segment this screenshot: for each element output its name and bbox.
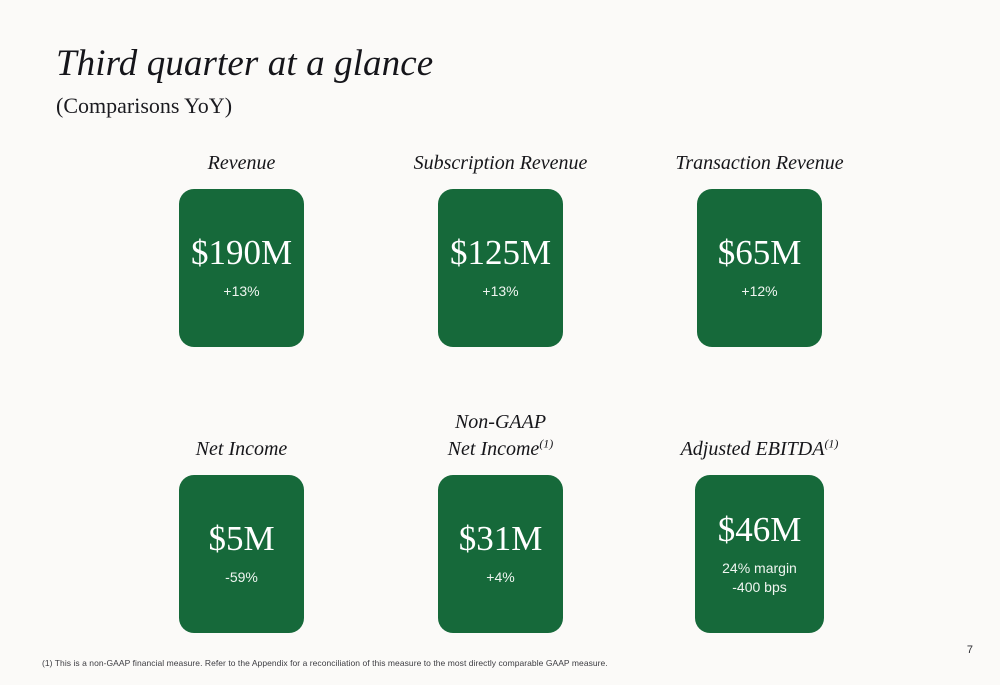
metric-label-text: Subscription Revenue — [414, 152, 588, 174]
metric-card: $125M +13% — [438, 189, 563, 347]
metric-card: $31M +4% — [438, 475, 563, 633]
page-title: Third quarter at a glance — [56, 42, 433, 86]
metric-card: $190M +13% — [179, 189, 304, 347]
metric-label-text: Adjusted EBITDA — [681, 438, 825, 460]
metric-card: $46M 24% margin -400 bps — [695, 475, 824, 633]
metric-delta: -59% — [225, 568, 258, 587]
metric-label-text: Revenue — [208, 152, 276, 174]
metric-label: Net Income — [196, 436, 288, 463]
metric-label: Transaction Revenue — [675, 150, 843, 177]
page-number: 7 — [967, 643, 973, 657]
metrics-row-2: Net Income $5M -59% Non-GAAP Net Income(… — [0, 407, 1000, 633]
label-block: Adjusted EBITDA(1) — [681, 407, 839, 463]
metric-label-text: Net Income — [196, 438, 288, 460]
metric-label: Non-GAAP Net Income(1) — [448, 409, 554, 463]
metric-value: $125M — [450, 233, 551, 273]
label-block: Revenue — [208, 150, 276, 177]
metric-value: $5M — [208, 519, 274, 559]
metrics-grid: Revenue $190M +13% Subscription Revenue … — [0, 150, 1000, 633]
metric-label-superscript: (1) — [824, 436, 838, 450]
metric-delta: +13% — [482, 282, 518, 301]
metric-card: $65M +12% — [697, 189, 822, 347]
metric-label: Revenue — [208, 150, 276, 177]
slide: Third quarter at a glance (Comparisons Y… — [0, 0, 1000, 685]
metric-label: Subscription Revenue — [414, 150, 588, 177]
metric-non-gaap-net-income: Non-GAAP Net Income(1) $31M +4% — [374, 407, 627, 633]
metric-delta: +13% — [223, 282, 259, 301]
label-block: Net Income — [196, 407, 288, 463]
metric-value: $65M — [718, 233, 802, 273]
metric-value: $46M — [718, 510, 802, 550]
metric-delta: 24% margin -400 bps — [722, 559, 797, 597]
metric-delta: +4% — [486, 568, 514, 587]
metric-card: $5M -59% — [179, 475, 304, 633]
label-block: Subscription Revenue — [414, 150, 588, 177]
metric-adjusted-ebitda: Adjusted EBITDA(1) $46M 24% margin -400 … — [633, 407, 886, 633]
metrics-row-1: Revenue $190M +13% Subscription Revenue … — [0, 150, 1000, 347]
metric-subscription-revenue: Subscription Revenue $125M +13% — [374, 150, 627, 347]
metric-label-text: Non-GAAP Net Income — [448, 411, 546, 460]
slide-header: Third quarter at a glance (Comparisons Y… — [56, 42, 433, 120]
footnote: (1) This is a non-GAAP financial measure… — [42, 657, 608, 669]
metric-delta: +12% — [741, 282, 777, 301]
metric-label: Adjusted EBITDA(1) — [681, 436, 839, 463]
metric-label-superscript: (1) — [539, 436, 553, 450]
metric-label-text: Transaction Revenue — [675, 152, 843, 174]
metric-value: $190M — [191, 233, 292, 273]
metric-net-income: Net Income $5M -59% — [115, 407, 368, 633]
metric-revenue: Revenue $190M +13% — [115, 150, 368, 347]
page-subtitle: (Comparisons YoY) — [56, 92, 433, 120]
label-block: Non-GAAP Net Income(1) — [448, 407, 554, 463]
metric-transaction-revenue: Transaction Revenue $65M +12% — [633, 150, 886, 347]
label-block: Transaction Revenue — [675, 150, 843, 177]
metric-value: $31M — [459, 519, 543, 559]
